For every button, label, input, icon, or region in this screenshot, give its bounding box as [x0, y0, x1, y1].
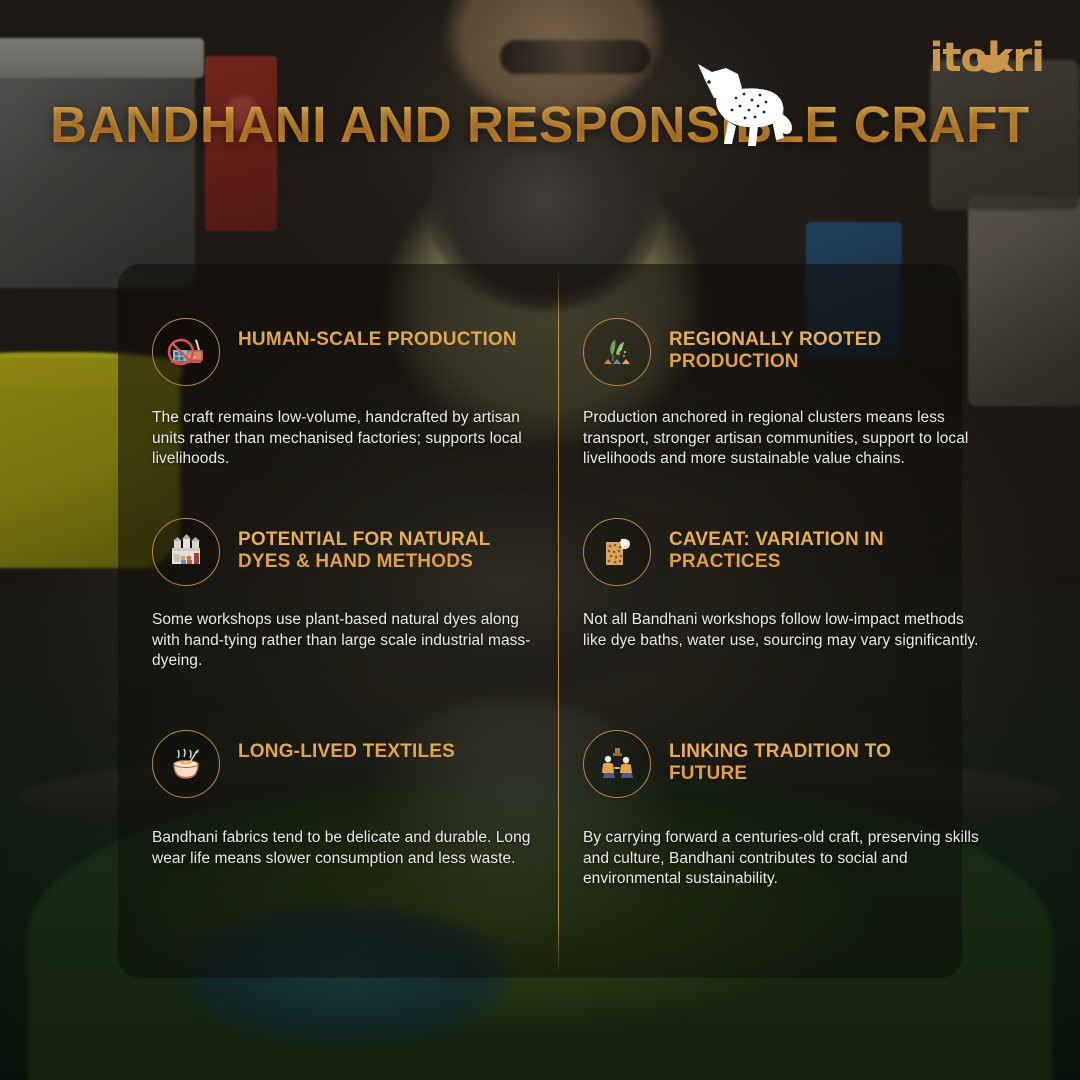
feature-title: POTENTIAL FOR NATURAL DYES & HAND METHOD…	[238, 518, 538, 574]
feature-block-regionally-rooted-production: REGIONALLY ROOTED PRODUCTION	[583, 318, 969, 386]
page-title: BANDHANI AND RESPONSIBLE CRAFT	[0, 96, 1080, 153]
feature-body-linking-tradition-future: By carrying forward a centuries-old craf…	[583, 828, 983, 890]
seedling-soil-icon	[583, 318, 651, 386]
feature-body-long-lived-textiles: Bandhani fabrics tend to be delicate and…	[152, 828, 544, 869]
feature-body-natural-dyes-hand-methods: Some workshops use plant-based natural d…	[152, 610, 544, 672]
two-artisans-icon	[583, 730, 651, 798]
brand-logo[interactable]: itokri	[930, 38, 1044, 78]
column-divider	[558, 268, 559, 974]
feature-block-caveat-variation: CAVEAT: VARIATION IN PRACTICES	[583, 518, 969, 586]
feature-title: LONG-LIVED TEXTILES	[238, 730, 538, 763]
workshop-building-icon	[152, 518, 220, 586]
feature-block-linking-tradition-future: LINKING TRADITION TO FUTURE	[583, 730, 969, 798]
feature-body-regionally-rooted-production: Production anchored in regional clusters…	[583, 408, 983, 470]
feature-title: LINKING TRADITION TO FUTURE	[669, 730, 969, 786]
feature-title: HUMAN-SCALE PRODUCTION	[238, 318, 538, 351]
feature-title: CAVEAT: VARIATION IN PRACTICES	[669, 518, 969, 574]
feature-title: REGIONALLY ROOTED PRODUCTION	[669, 318, 969, 374]
infographic-canvas: itokri BANDHANI AND RESPONSIBLE CRAFT	[0, 0, 1080, 1080]
feature-block-natural-dyes-hand-methods: POTENTIAL FOR NATURAL DYES & HAND METHOD…	[152, 518, 538, 586]
feature-body-human-scale-production: The craft remains low-volume, handcrafte…	[152, 408, 544, 470]
steaming-dye-pot-icon	[152, 730, 220, 798]
no-factory-icon	[152, 318, 220, 386]
feature-block-human-scale-production: HUMAN-SCALE PRODUCTION	[152, 318, 538, 386]
feature-block-long-lived-textiles: LONG-LIVED TEXTILES	[152, 730, 538, 798]
goat-mascot-illustration-icon	[688, 58, 804, 158]
hand-holding-fabric-icon	[583, 518, 651, 586]
feature-body-caveat-variation: Not all Bandhani workshops follow low-im…	[583, 610, 983, 651]
